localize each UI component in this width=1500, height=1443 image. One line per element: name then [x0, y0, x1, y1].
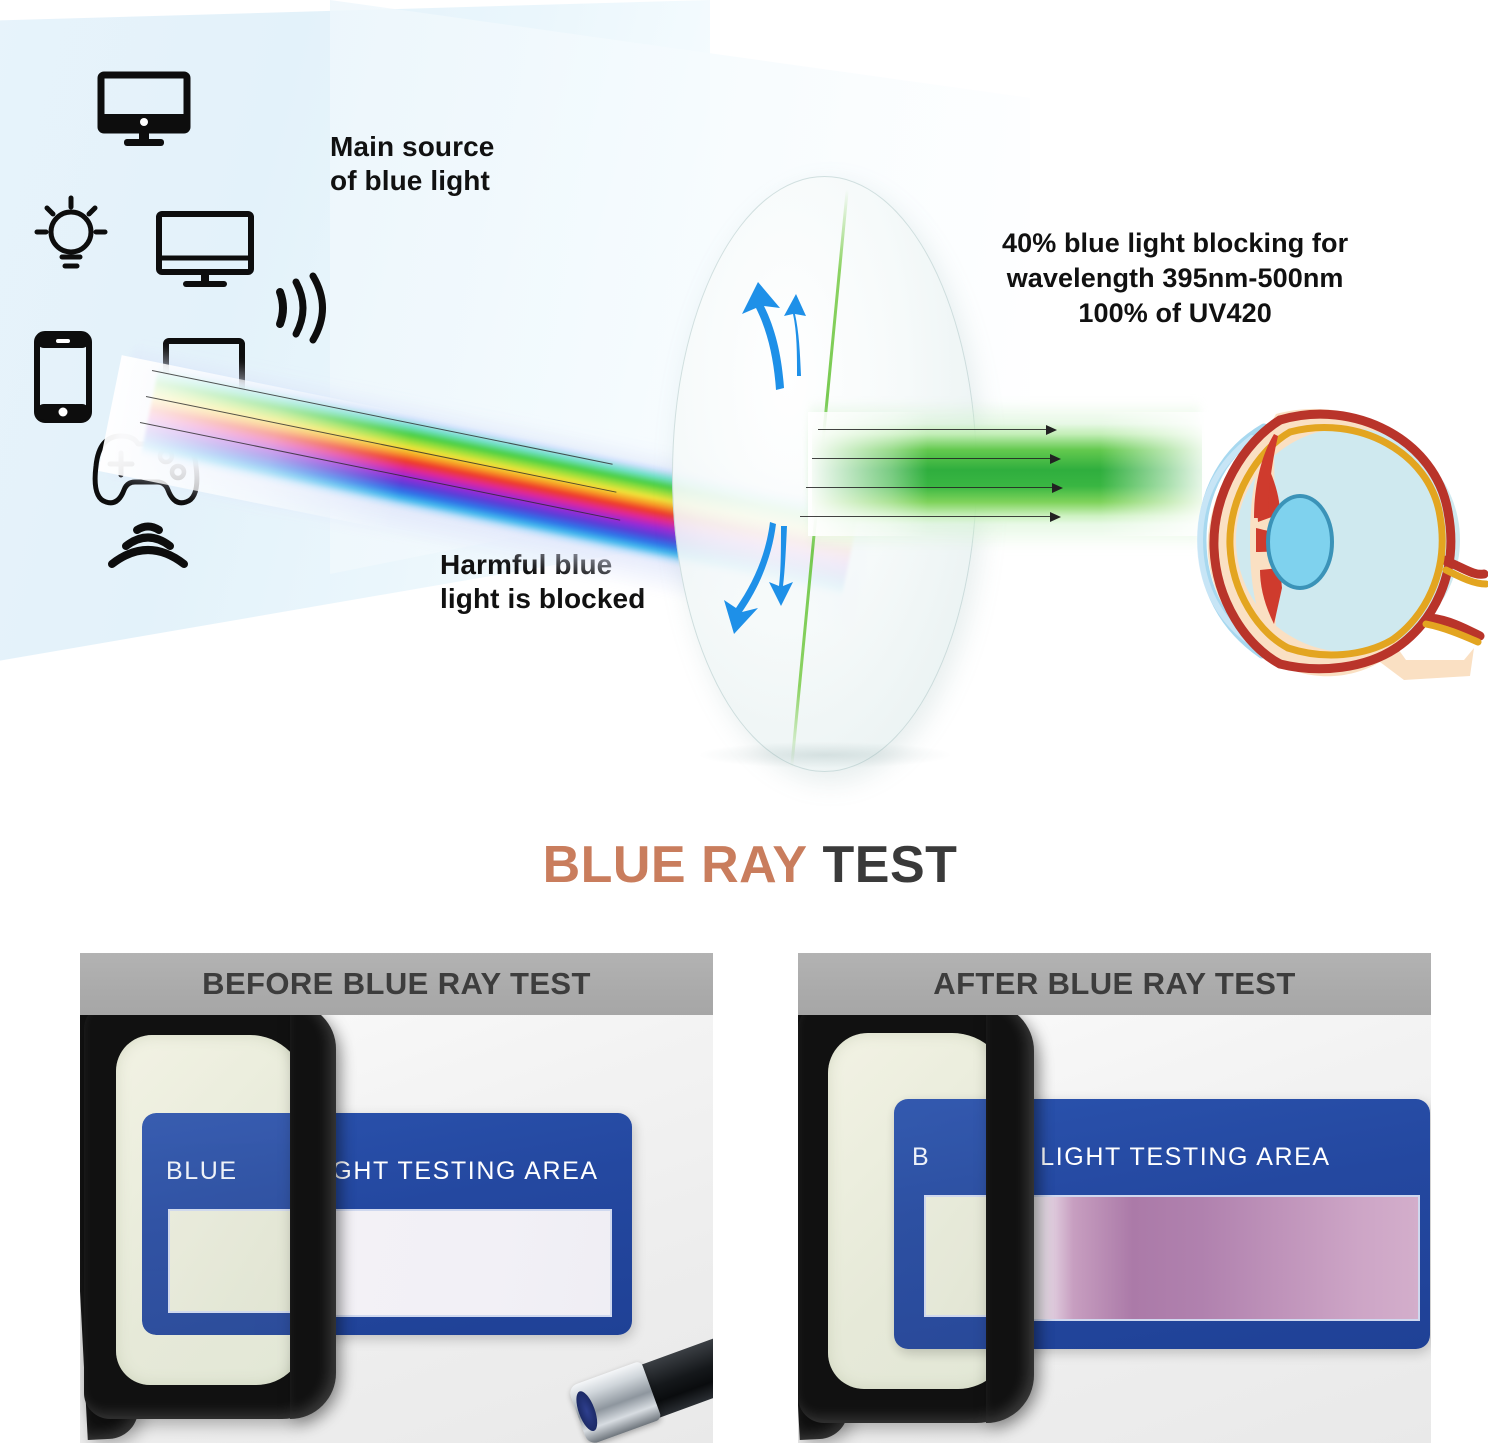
page-title-accent: BLUE RAY — [543, 836, 808, 894]
panel-before: BEFORE BLUE RAY TEST BLUE LIGHT TESTING … — [80, 953, 713, 1443]
transmitted-ray-arrow — [1050, 512, 1061, 522]
panel-after: AFTER BLUE RAY TEST BLUE LIGHT TESTING A… — [798, 953, 1431, 1443]
panel-after-header: AFTER BLUE RAY TEST — [798, 953, 1431, 1015]
panel-before-photo: BLUE LIGHT TESTING AREA BLUE — [80, 1015, 713, 1443]
reflected-blue-arrow-up-small — [780, 292, 816, 383]
desktop-monitor-icon — [96, 70, 192, 150]
blue-light-infographic-page: Main source of blue light Harmful blue l… — [0, 0, 1500, 1443]
transmitted-ray-arrow — [1046, 425, 1057, 435]
panel-after-photo: BLUE LIGHT TESTING AREA B — [798, 1015, 1431, 1443]
label-main-source: Main source of blue light — [330, 130, 494, 198]
transmitted-ray-arrow — [1050, 454, 1061, 464]
transmitted-ray-line — [818, 429, 1048, 430]
human-eye-cross-section — [1168, 392, 1488, 692]
page-title: BLUE RAY TEST — [0, 835, 1500, 895]
transmitted-ray-line — [806, 487, 1054, 488]
page-title-plain: TEST — [823, 836, 958, 894]
green-beam-fade-in — [808, 412, 928, 536]
lens-shadow — [700, 742, 950, 768]
infographic-section: Main source of blue light Harmful blue l… — [0, 0, 1500, 810]
card-title-through-lens: BLUE — [166, 1157, 238, 1186]
card-through-lens: BLUE — [142, 1113, 307, 1335]
transmitted-ray-line — [800, 516, 1052, 517]
test-strip-through-lens — [168, 1209, 307, 1313]
card-title-through-lens: B — [912, 1143, 930, 1172]
glasses-frame-right-edge — [290, 1015, 336, 1419]
label-main-source-line1: Main source — [330, 130, 494, 164]
panel-before-header: BEFORE BLUE RAY TEST — [80, 953, 713, 1015]
reflected-blue-arrow-down-small — [766, 524, 802, 613]
transmitted-ray-line — [812, 458, 1052, 459]
label-main-source-line2: of blue light — [330, 164, 494, 198]
transmitted-ray-arrow — [1052, 483, 1063, 493]
